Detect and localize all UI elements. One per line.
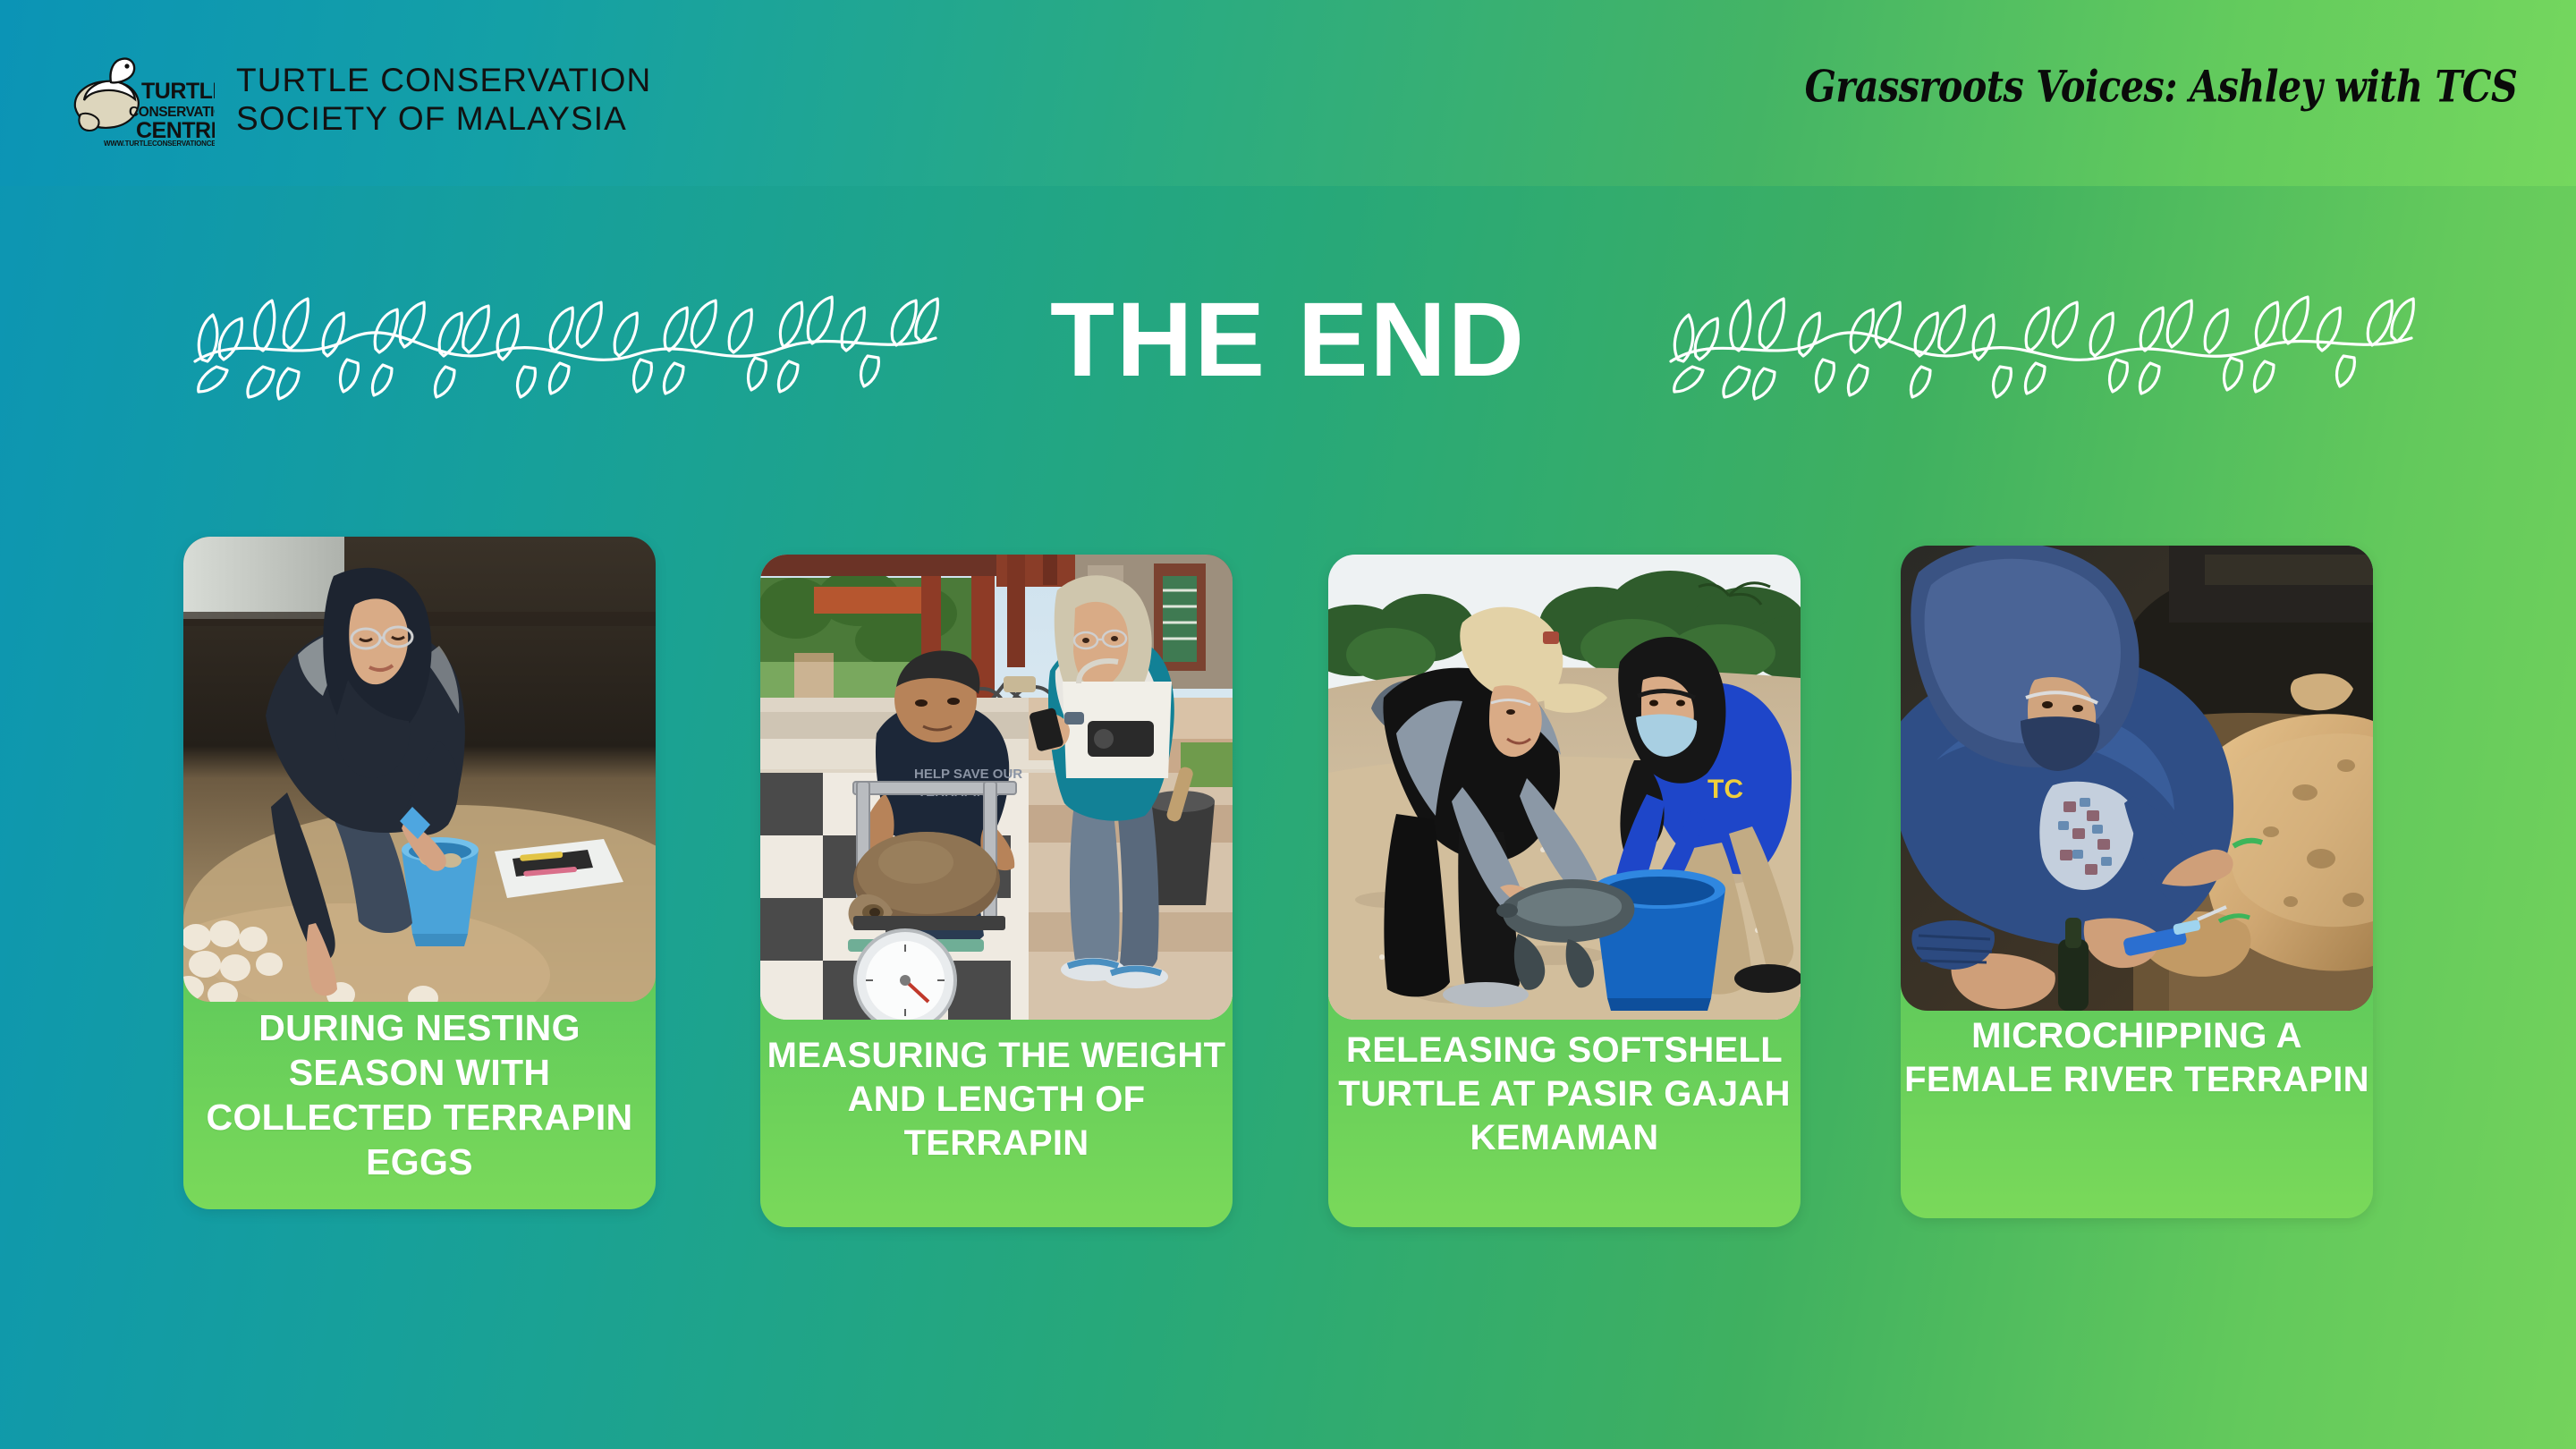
photo-microchipping-terrapin (1901, 546, 2373, 1011)
photo-cards-row: DURING NESTING SEASON WITH COLLECTED TER… (0, 537, 2576, 1216)
photo-measuring-terrapin: HELP SAVE OUR TERRAPINS! (760, 555, 1233, 1020)
card-caption: MEASURING THE WEIGHT AND LENGTH OF TERRA… (753, 1034, 1240, 1165)
page-title: THE END (1050, 287, 1526, 393)
photo-card[interactable]: MICROCHIPPING A FEMALE RIVER TERRAPIN (1901, 546, 2373, 1218)
photo-card[interactable]: DURING NESTING SEASON WITH COLLECTED TER… (183, 537, 656, 1209)
photo-nesting-season (183, 537, 656, 1002)
svg-text:TC: TC (1707, 775, 1743, 804)
photo-card[interactable]: TC (1328, 555, 1801, 1227)
turtle-conservation-centre-logo-icon: TURTLE CONSERVATION CENTRE WWW.TURTLECON… (64, 52, 215, 148)
organization-logo-block: TURTLE CONSERVATION CENTRE WWW.TURTLECON… (64, 52, 651, 148)
organization-name: TURTLE CONSERVATION SOCIETY OF MALAYSIA (236, 62, 651, 139)
card-caption: DURING NESTING SEASON WITH COLLECTED TER… (176, 1005, 663, 1184)
photo-card[interactable]: HELP SAVE OUR TERRAPINS! (760, 555, 1233, 1227)
header-bar: TURTLE CONSERVATION CENTRE WWW.TURTLECON… (0, 0, 2576, 186)
card-caption: RELEASING SOFTSHELL TURTLE AT PASIR GAJA… (1321, 1029, 1808, 1159)
svg-text:WWW.TURTLECONSERVATIONCENTRE.O: WWW.TURTLECONSERVATIONCENTRE.ORG (104, 140, 215, 148)
svg-text:HELP SAVE OUR: HELP SAVE OUR (914, 767, 1022, 782)
series-title: Grassroots Voices: Ashley with TCS (1804, 62, 2517, 113)
photo-releasing-softshell: TC (1328, 555, 1801, 1020)
slide-canvas: TURTLE CONSERVATION CENTRE WWW.TURTLECON… (0, 0, 2576, 1449)
leaf-vine-icon-right (1665, 284, 2417, 394)
svg-text:TURTLE: TURTLE (141, 79, 215, 104)
card-caption: MICROCHIPPING A FEMALE RIVER TERRAPIN (1894, 1014, 2380, 1102)
